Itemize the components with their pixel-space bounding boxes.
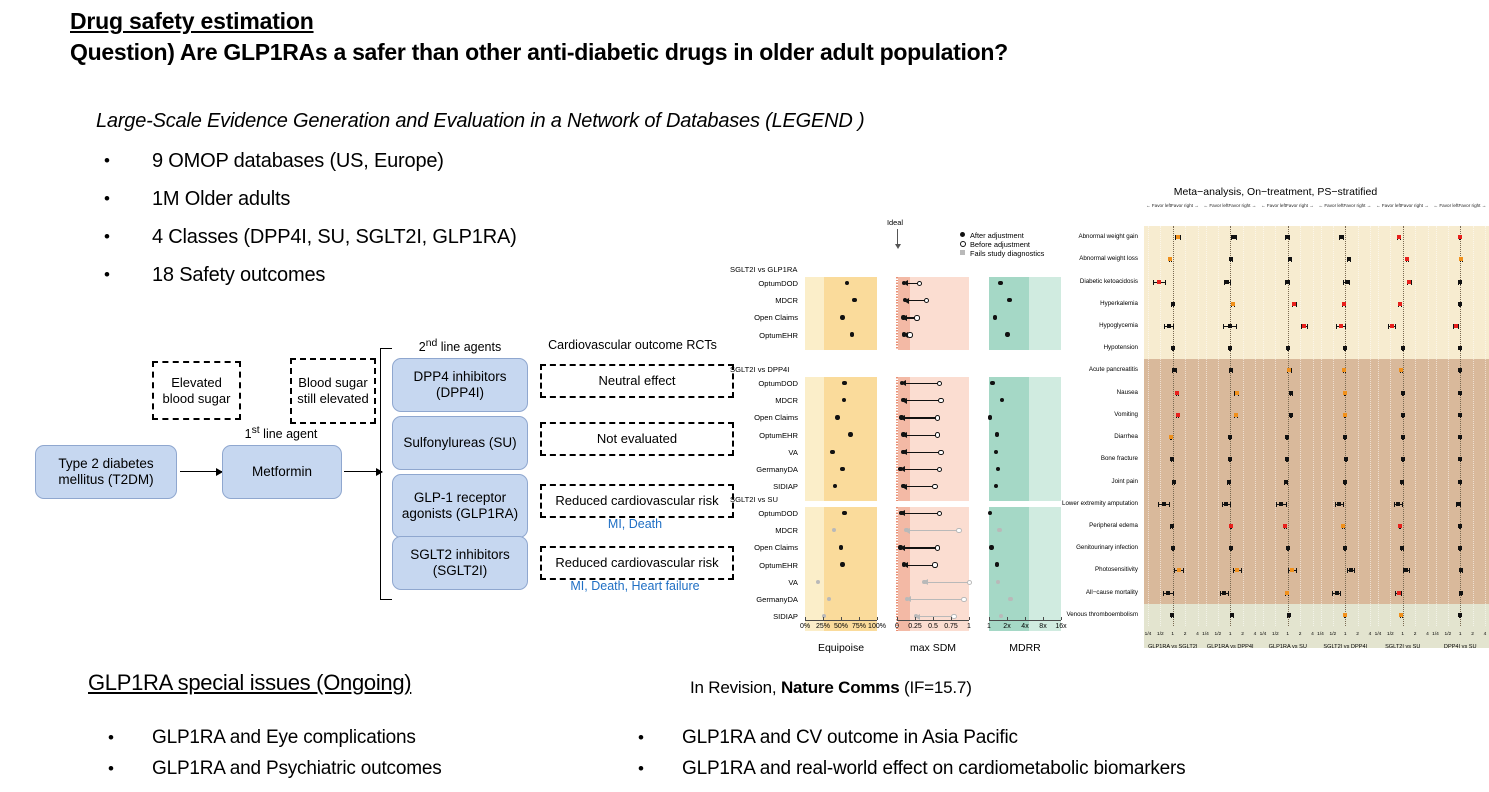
point-estimate xyxy=(1399,613,1403,617)
gridline xyxy=(1243,226,1244,626)
outcome-label: Joint pain xyxy=(1062,478,1138,485)
gridline xyxy=(1358,226,1359,626)
sdm-change-arrow xyxy=(916,616,953,617)
sdm-change-arrow xyxy=(924,582,969,583)
sdm-change-arrow xyxy=(903,486,934,487)
gridline xyxy=(1263,226,1264,626)
point-estimate xyxy=(1285,435,1289,439)
panel-band-dark xyxy=(989,507,1029,631)
forest-x-tick: 4 xyxy=(1476,632,1489,637)
favor-left-label: ← Favor left xyxy=(1204,203,1229,208)
point-estimate xyxy=(1459,568,1463,572)
ideal-arrow xyxy=(897,229,898,245)
axis-name: max SDM xyxy=(883,642,983,654)
point-estimate xyxy=(1400,480,1404,484)
page-title: Drug safety estimation Question) Are GLP… xyxy=(70,6,1410,68)
sdm-change-arrow xyxy=(903,435,936,436)
flow-box-agent-1[interactable]: Sulfonylureas (SU) xyxy=(392,416,528,470)
point-estimate xyxy=(1228,457,1232,461)
point-estimate xyxy=(1390,324,1394,328)
point-estimate xyxy=(1344,457,1348,461)
point-estimate xyxy=(1398,524,1402,528)
rct-result-1: Not evaluated xyxy=(540,422,734,456)
study-facts-list: 9 OMOP databases (US, Europe)1M Older ad… xyxy=(96,142,517,294)
point-estimate xyxy=(1407,280,1411,284)
point-estimate xyxy=(1456,502,1460,506)
sdm-threshold-edge xyxy=(896,507,898,631)
point-estimate xyxy=(1176,413,1180,417)
point-estimate xyxy=(1285,591,1289,595)
legend-marker-open-circle xyxy=(960,241,966,247)
sdm-before-point xyxy=(935,432,940,437)
point-estimate xyxy=(1400,546,1404,550)
list-item: GLP1RA and Eye complications xyxy=(100,722,442,753)
panel-band-dark xyxy=(897,277,910,350)
sdm-after-point xyxy=(899,415,903,419)
database-label: GermanyDA xyxy=(726,465,798,474)
favor-right-label: Favor right → xyxy=(1286,203,1314,208)
rct-note-3: MI, Death, Heart failure xyxy=(540,579,730,593)
favor-left-label: ← Favor left xyxy=(1434,203,1459,208)
favor-right-label: Favor right → xyxy=(1459,203,1487,208)
gridline xyxy=(1333,226,1334,626)
point-estimate xyxy=(1169,435,1173,439)
axis-tick xyxy=(897,617,898,620)
outcome-label: Peripheral edema xyxy=(1062,522,1138,529)
gridline xyxy=(1436,226,1437,626)
sdm-change-arrow xyxy=(905,300,926,301)
point-estimate xyxy=(1454,324,1458,328)
flow-box-agent-3[interactable]: SGLT2 inhibitors (SGLT2I) xyxy=(392,536,528,590)
point-estimate xyxy=(1458,413,1462,417)
sdm-change-arrow xyxy=(901,469,939,470)
point-estimate xyxy=(1229,368,1233,372)
favor-left-label: ← Favor left xyxy=(1319,203,1344,208)
point-estimate xyxy=(1171,346,1175,350)
point-estimate xyxy=(1398,302,1402,306)
point-estimate xyxy=(1287,368,1291,372)
second-line-label: 2nd line agents xyxy=(390,338,530,354)
sdm-change-arrow xyxy=(901,547,937,548)
favor-right-label: Favor right → xyxy=(1344,203,1372,208)
gridline xyxy=(1473,226,1474,626)
legend-marker-filled-circle xyxy=(960,232,965,237)
axis-tick xyxy=(915,617,916,620)
null-effect-line xyxy=(1173,226,1174,626)
axis-name: Equipoise xyxy=(791,642,891,654)
sdm-change-arrow xyxy=(904,565,934,566)
axis-tick xyxy=(1007,617,1008,620)
point-estimate xyxy=(1396,502,1400,506)
outcome-label: Abnormal weight gain xyxy=(1062,233,1138,240)
favor-right-label: Favor right → xyxy=(1229,203,1257,208)
mdrr-point xyxy=(996,580,1000,584)
point-estimate xyxy=(1171,302,1175,306)
point-estimate xyxy=(1343,480,1347,484)
point-estimate xyxy=(1172,368,1176,372)
ongoing-right-list: GLP1RA and CV outcome in Asia PacificGLP… xyxy=(630,722,1185,784)
point-estimate xyxy=(1162,502,1166,506)
sdm-after-point xyxy=(901,484,905,488)
point-estimate xyxy=(1458,302,1462,306)
outcome-band-mortality-vte xyxy=(1144,604,1489,648)
point-estimate xyxy=(1397,591,1401,595)
comparison-column-label: DPP4I vs SU xyxy=(1426,644,1489,650)
point-estimate xyxy=(1401,346,1405,350)
outcome-label: Photosensitivity xyxy=(1062,566,1138,573)
panel-band-dark xyxy=(989,277,1029,350)
ideal-arrowhead xyxy=(895,244,901,249)
point-estimate xyxy=(1459,591,1463,595)
point-estimate xyxy=(1229,524,1233,528)
database-label: Open Claims xyxy=(726,543,798,552)
mdrr-point xyxy=(988,415,992,419)
legend-label: After adjustment xyxy=(970,231,1024,240)
flow-brace xyxy=(380,348,392,600)
point-estimate xyxy=(1458,613,1462,617)
outcome-label: Diarrhea xyxy=(1062,433,1138,440)
sdm-change-arrow xyxy=(902,383,939,384)
outcome-label: Diabetic ketoacidosis xyxy=(1062,278,1138,285)
database-label: MDCR xyxy=(726,296,798,305)
point-estimate xyxy=(1172,480,1176,484)
point-estimate xyxy=(1175,391,1179,395)
point-estimate xyxy=(1302,324,1306,328)
axis-tick xyxy=(989,617,990,620)
point-estimate xyxy=(1339,324,1343,328)
point-estimate xyxy=(1458,524,1462,528)
point-estimate xyxy=(1225,280,1229,284)
database-label: Open Claims xyxy=(726,313,798,322)
point-estimate xyxy=(1343,391,1347,395)
mdrr-point xyxy=(1007,298,1011,302)
flow-box-metformin[interactable]: Metformin xyxy=(222,445,342,499)
null-effect-line xyxy=(1288,226,1289,626)
null-effect-line xyxy=(1230,226,1231,626)
rct-result-0: Neutral effect xyxy=(540,364,734,398)
point-estimate xyxy=(1341,524,1345,528)
point-estimate xyxy=(1290,568,1294,572)
mdrr-point xyxy=(1008,597,1012,601)
outcome-label: Nausea xyxy=(1062,389,1138,396)
mdrr-point xyxy=(998,281,1002,285)
equipoise-point xyxy=(842,511,846,515)
database-label: SIDIAP xyxy=(726,612,798,621)
point-estimate xyxy=(1458,346,1462,350)
point-estimate xyxy=(1229,257,1233,261)
point-estimate xyxy=(1459,257,1463,261)
outcome-label: Hypoglycemia xyxy=(1062,322,1138,329)
sdm-before-point xyxy=(967,580,972,585)
database-label: Open Claims xyxy=(726,413,798,422)
point-estimate xyxy=(1458,368,1462,372)
point-estimate xyxy=(1343,546,1347,550)
mdrr-point xyxy=(995,562,999,566)
dashed-box-elevated-blood-sugar: Elevated blood sugar xyxy=(152,361,241,420)
point-estimate xyxy=(1292,302,1296,306)
database-label: GermanyDA xyxy=(726,595,798,604)
equipoise-point xyxy=(827,597,831,601)
dashed-box-still-elevated: Blood sugar still elevated xyxy=(290,358,376,424)
axis-line xyxy=(897,620,969,621)
point-estimate xyxy=(1342,302,1346,306)
database-label: OptumDOD xyxy=(726,509,798,518)
outcome-label: All−cause mortality xyxy=(1062,589,1138,596)
mdrr-point xyxy=(993,315,997,319)
point-estimate xyxy=(1286,235,1290,239)
gridline xyxy=(1148,226,1149,626)
point-estimate xyxy=(1401,435,1405,439)
point-estimate xyxy=(1335,591,1339,595)
point-estimate xyxy=(1228,435,1232,439)
list-item: 9 OMOP databases (US, Europe) xyxy=(96,142,517,180)
flow-box-agent-0[interactable]: DPP4 inhibitors (DPP4I) xyxy=(392,358,528,412)
gridline xyxy=(1218,226,1219,626)
point-estimate xyxy=(1405,257,1409,261)
database-label: VA xyxy=(726,578,798,587)
journal-name: Nature Comms xyxy=(781,678,900,697)
flow-arrow-2 xyxy=(344,471,382,472)
list-item: GLP1RA and real-world effect on cardiome… xyxy=(630,753,1185,784)
mdrr-point xyxy=(989,545,993,549)
axis-tick xyxy=(1025,617,1026,620)
point-estimate xyxy=(1458,546,1462,550)
flow-arrow-1 xyxy=(180,471,222,472)
axis-tick xyxy=(933,617,934,620)
database-label: VA xyxy=(726,448,798,457)
sdm-after-point xyxy=(901,450,905,454)
panel-band-dark xyxy=(897,507,910,631)
ongoing-left-list: GLP1RA and Eye complicationsGLP1RA and P… xyxy=(100,722,442,784)
favor-right-label: Favor right → xyxy=(1401,203,1429,208)
database-label: OptumDOD xyxy=(726,379,798,388)
sdm-after-point xyxy=(904,528,908,532)
gridline xyxy=(1321,226,1322,626)
gridline xyxy=(1378,226,1379,626)
section-heading-ongoing: GLP1RA special issues (Ongoing) xyxy=(88,670,411,696)
impact-factor: (IF=15.7) xyxy=(899,678,971,697)
axis-tick xyxy=(823,617,824,620)
sdm-before-point xyxy=(956,528,961,533)
ideal-label: Ideal xyxy=(887,218,903,227)
database-label: SIDIAP xyxy=(726,482,798,491)
title-line-2: Question) Are GLP1RAs a safer than other… xyxy=(70,36,1410,68)
point-estimate xyxy=(1401,391,1405,395)
sdm-after-point xyxy=(898,467,902,471)
point-estimate xyxy=(1286,546,1290,550)
point-estimate xyxy=(1168,257,1172,261)
point-estimate xyxy=(1283,524,1287,528)
equipoise-point xyxy=(840,315,844,319)
point-estimate xyxy=(1339,235,1343,239)
sdm-after-point xyxy=(901,398,905,402)
point-estimate xyxy=(1285,457,1289,461)
sdm-before-point xyxy=(932,562,937,567)
axis-tick xyxy=(841,617,842,620)
list-item: 4 Classes (DPP4I, SU, SGLT2I, GLP1RA) xyxy=(96,218,517,256)
database-label: OptumDOD xyxy=(726,279,798,288)
null-effect-line xyxy=(1403,226,1404,626)
equipoise-point xyxy=(845,281,849,285)
flow-box-t2dm[interactable]: Type 2 diabetes mellitus (T2DM) xyxy=(35,445,177,499)
database-label: MDCR xyxy=(726,396,798,405)
equipoise-point xyxy=(816,580,820,584)
point-estimate xyxy=(1343,613,1347,617)
sdm-change-arrow xyxy=(901,513,938,514)
point-estimate xyxy=(1343,346,1347,350)
sdm-before-point xyxy=(907,332,912,337)
database-label: OptumEHR xyxy=(726,431,798,440)
database-label: MDCR xyxy=(726,526,798,535)
point-estimate xyxy=(1342,368,1346,372)
panel-band-dark xyxy=(824,277,877,350)
sdm-change-arrow xyxy=(901,417,936,418)
meta-analysis-forest-plot: Meta−analysis, On−treatment, PS−stratifi… xyxy=(1062,186,1489,656)
point-estimate xyxy=(1228,324,1232,328)
point-estimate xyxy=(1176,235,1180,239)
outcome-label: Genitourinary infection xyxy=(1062,544,1138,551)
panel-band-dark xyxy=(989,377,1029,501)
point-estimate xyxy=(1235,391,1239,395)
sdm-before-point xyxy=(938,450,943,455)
outcome-label: Bone fracture xyxy=(1062,455,1138,462)
legend-marker-gray-square xyxy=(960,250,965,255)
point-estimate xyxy=(1458,235,1462,239)
gridline xyxy=(1428,226,1429,626)
point-estimate xyxy=(1230,613,1234,617)
point-estimate xyxy=(1343,435,1347,439)
point-estimate xyxy=(1170,457,1174,461)
point-estimate xyxy=(1286,346,1290,350)
favor-left-label: ← Favor left xyxy=(1376,203,1401,208)
outcome-label: Lower extremity amputation xyxy=(1062,500,1138,507)
sdm-after-point xyxy=(898,545,902,549)
sdm-change-arrow xyxy=(903,400,940,401)
point-estimate xyxy=(1401,457,1405,461)
forest-plot-title: Meta−analysis, On−treatment, PS−stratifi… xyxy=(1062,186,1489,198)
point-estimate xyxy=(1399,368,1403,372)
point-estimate xyxy=(1288,257,1292,261)
outcome-label: Vomiting xyxy=(1062,411,1138,418)
point-estimate xyxy=(1177,568,1181,572)
sdm-before-point xyxy=(914,315,919,320)
point-estimate xyxy=(1458,435,1462,439)
point-estimate xyxy=(1289,413,1293,417)
comparison-group-label: SGLT2I vs GLP1RA xyxy=(730,265,797,274)
list-item: 1M Older adults xyxy=(96,180,517,218)
equipoise-point xyxy=(840,467,844,471)
equipoise-point xyxy=(842,381,846,385)
database-label: OptumEHR xyxy=(726,561,798,570)
gridline xyxy=(1255,226,1256,626)
gridline xyxy=(1370,226,1371,626)
null-effect-line xyxy=(1460,226,1461,626)
point-estimate xyxy=(1285,280,1289,284)
mdrr-point xyxy=(1005,332,1009,336)
point-estimate xyxy=(1289,391,1293,395)
point-estimate xyxy=(1170,524,1174,528)
study-diagnostics-panel: IdealAfter adjustmentBefore adjustmentFa… xyxy=(726,205,1061,660)
mdrr-point xyxy=(994,450,998,454)
mdrr-point xyxy=(995,432,999,436)
axis-tick xyxy=(877,617,878,620)
sdm-before-point xyxy=(935,415,940,420)
equipoise-point xyxy=(839,545,843,549)
sdm-after-point xyxy=(901,432,905,436)
axis-tick xyxy=(859,617,860,620)
outcome-band-metabolic xyxy=(1144,226,1489,359)
mdrr-point xyxy=(990,381,994,385)
sdm-before-point xyxy=(961,597,966,602)
point-estimate xyxy=(1287,613,1291,617)
point-estimate xyxy=(1337,502,1341,506)
equipoise-point xyxy=(840,562,844,566)
outcome-label: Hypotension xyxy=(1062,344,1138,351)
gridline xyxy=(1206,226,1207,626)
comparison-group-label: SGLT2I vs DPP4I xyxy=(730,365,789,374)
rct-note-2: MI, Death xyxy=(540,517,730,531)
sdm-change-arrow xyxy=(906,530,958,531)
axis-line xyxy=(989,620,1061,621)
equipoise-point xyxy=(850,332,854,336)
panel-band-dark xyxy=(824,377,877,501)
favor-left-label: ← Favor left xyxy=(1146,203,1171,208)
axis-tick xyxy=(969,617,970,620)
point-estimate xyxy=(1228,346,1232,350)
list-item: 18 Safety outcomes xyxy=(96,256,517,294)
axis-name: MDRR xyxy=(975,642,1075,654)
point-estimate xyxy=(1234,413,1238,417)
favor-left-label: ← Favor left xyxy=(1261,203,1286,208)
gridline xyxy=(1415,226,1416,626)
sdm-before-point xyxy=(938,398,943,403)
equipoise-point xyxy=(835,415,839,419)
outcome-label: Venous thromboembolism xyxy=(1062,611,1138,618)
point-estimate xyxy=(1284,480,1288,484)
sdm-after-point xyxy=(922,580,926,584)
sdm-threshold-edge xyxy=(896,377,898,501)
point-estimate xyxy=(1157,280,1161,284)
null-effect-line xyxy=(1345,226,1346,626)
point-estimate xyxy=(1458,391,1462,395)
gridline xyxy=(1185,226,1186,626)
point-estimate xyxy=(1347,257,1351,261)
axis-tick xyxy=(951,617,952,620)
gridline xyxy=(1390,226,1391,626)
point-estimate xyxy=(1458,480,1462,484)
first-line-label: 1st line agent xyxy=(222,425,340,441)
flow-box-agent-2[interactable]: GLP-1 receptor agonists (GLP1RA) xyxy=(392,474,528,538)
point-estimate xyxy=(1232,235,1236,239)
point-estimate xyxy=(1224,502,1228,506)
point-estimate xyxy=(1231,302,1235,306)
panel-band-dark xyxy=(824,507,877,631)
sdm-change-arrow xyxy=(907,599,963,600)
sdm-after-point xyxy=(901,315,905,319)
treatment-flow-diagram: Type 2 diabetes mellitus (T2DM)1st line … xyxy=(30,330,760,630)
point-estimate xyxy=(1167,324,1171,328)
point-estimate xyxy=(1229,546,1233,550)
list-item: GLP1RA and CV outcome in Asia Pacific xyxy=(630,722,1185,753)
point-estimate xyxy=(1345,280,1349,284)
outcome-label: Abnormal weight loss xyxy=(1062,255,1138,262)
sdm-before-point xyxy=(935,545,940,550)
sdm-change-arrow xyxy=(903,452,940,453)
point-estimate xyxy=(1343,413,1347,417)
axis-tick xyxy=(805,617,806,620)
gridline xyxy=(1485,226,1486,626)
study-name: Large-Scale Evidence Generation and Eval… xyxy=(96,110,864,133)
